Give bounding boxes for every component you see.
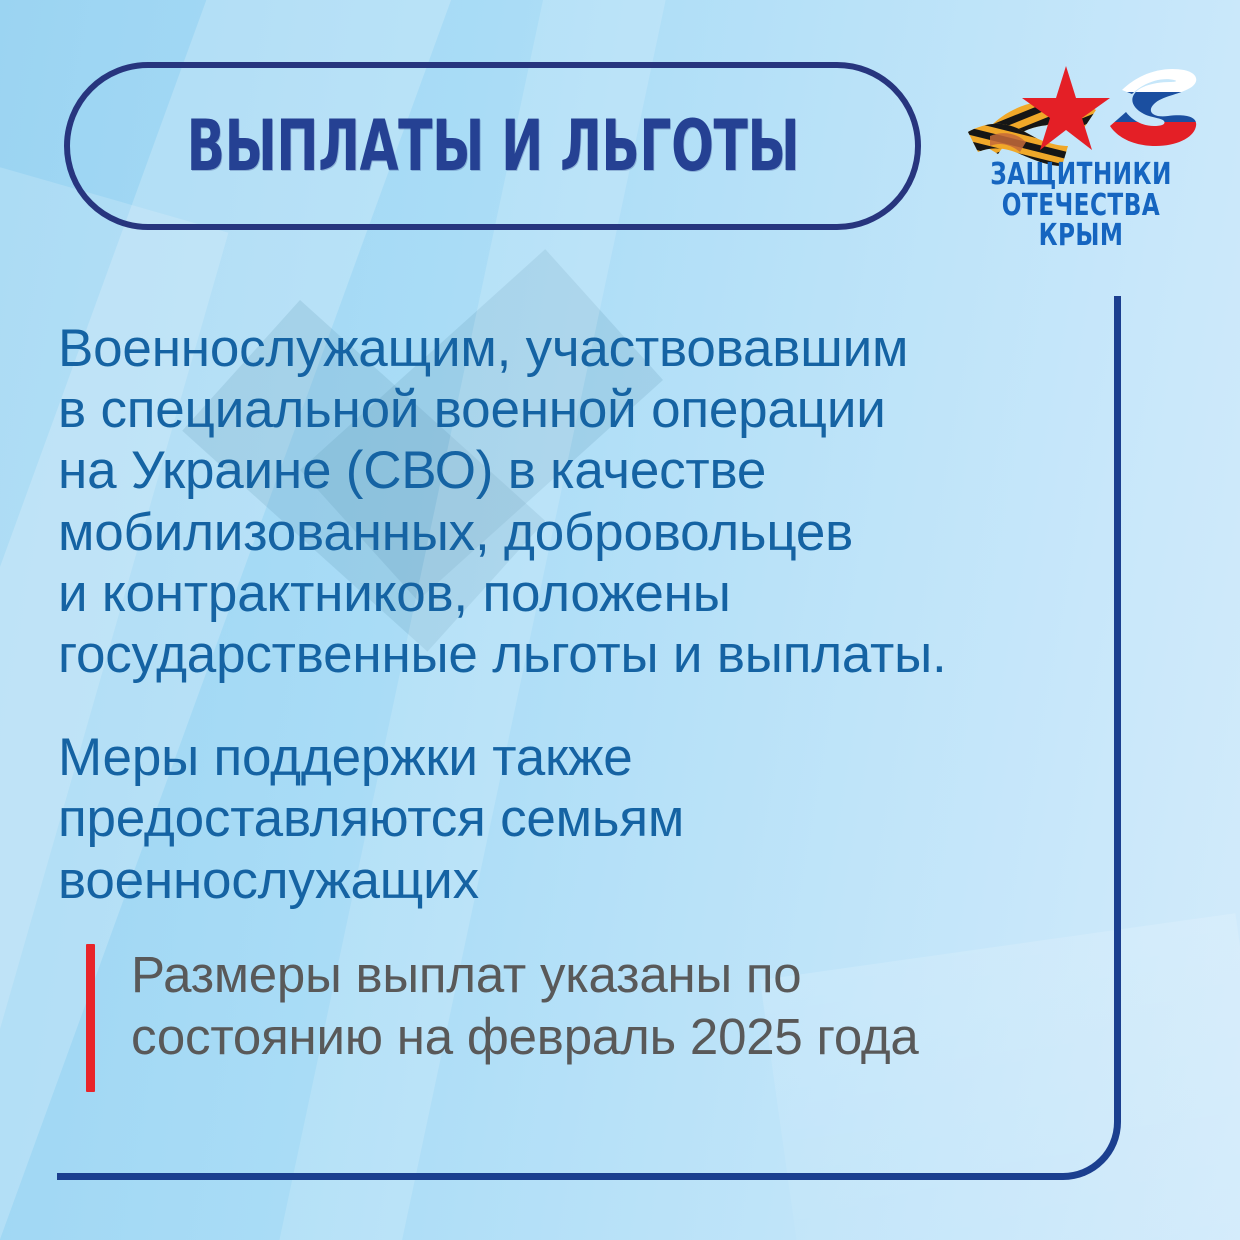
body-content: Военнослужащим, участвовавшим в специаль…	[58, 318, 1068, 911]
logo-line-2: ОТЕЧЕСТВА	[979, 191, 1184, 222]
page-title: ВЫПЛАТЫ И ЛЬГОТЫ	[186, 105, 799, 187]
note-text: Размеры выплат указаны по состоянию на ф…	[131, 944, 919, 1092]
st-george-ribbon-icon	[962, 68, 1117, 168]
logo-emblem-icon	[962, 56, 1200, 168]
disclaimer-note: Размеры выплат указаны по состоянию на ф…	[86, 944, 1066, 1092]
body-paragraph-2: Меры поддержки также предоставляются сем…	[58, 727, 1068, 911]
logo-line-3: КРЫМ	[979, 221, 1184, 252]
logo-line-1: ЗАЩИТНИКИ	[979, 160, 1184, 191]
note-accent-bar	[86, 944, 95, 1092]
logo-wordmark: ЗАЩИТНИКИ ОТЕЧЕСТВА КРЫМ	[962, 160, 1200, 252]
russian-flag-ribbon-icon	[1102, 62, 1200, 154]
infographic-card: ВЫПЛАТЫ И ЛЬГОТЫ	[0, 0, 1240, 1240]
body-paragraph-1: Военнослужащим, участвовавшим в специаль…	[58, 318, 1068, 685]
organization-logo: ЗАЩИТНИКИ ОТЕЧЕСТВА КРЫМ	[962, 56, 1200, 256]
page-title-pill: ВЫПЛАТЫ И ЛЬГОТЫ	[64, 62, 921, 230]
